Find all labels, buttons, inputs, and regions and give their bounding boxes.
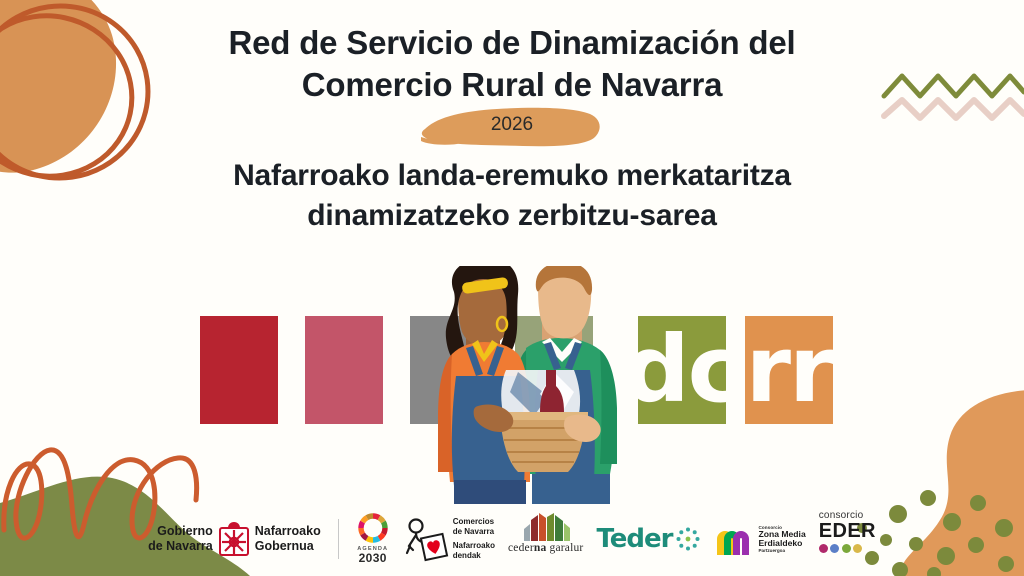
zona-l2: Erdialdeko [758,539,805,548]
comercios-text: Comercios de Navarra Nafarroako dendak [453,517,495,562]
eder-dot-row [819,544,863,553]
teder-dot-ring-icon [675,526,701,552]
block-orange-rr: rr [745,316,833,424]
shopkeepers-illustration [414,266,636,504]
cederna-tail: garalur [546,542,583,554]
sdg-wheel-icon [356,511,390,545]
gobierno-eu-l2: Gobernua [255,539,321,554]
block-olive-dc: dc [638,316,726,424]
zona-media-m-icon [714,523,754,555]
eder-dot-3 [853,544,862,553]
block-rose [305,316,383,424]
logo-gobierno-de-navarra: Gobierno de Navarra Nafarroako Gobernua [148,511,321,567]
block-orange-rr-letter: rr [745,316,833,424]
slide-canvas: Red de Servicio de Dinamización del Come… [0,0,1024,576]
cederna-mountain-icon [520,511,572,541]
title-es-line1: Red de Servicio de Dinamización del [0,22,1024,64]
shopper-heart-bag-icon [403,516,449,562]
year-badge: 2026 [457,112,567,138]
comercios-l3: Nafarroako [453,541,495,551]
year-label: 2026 [457,112,567,138]
gobierno-text-eu: Nafarroako Gobernua [255,524,321,555]
gobierno-es-l2: de Navarra [148,539,213,554]
logo-comercios-de-navarra: Comercios de Navarra Nafarroako dendak [403,511,495,567]
teder-wordmark: Teder [596,524,672,554]
logo-consorcio-eder: consorcio EDER [819,511,876,567]
eder-wordmark: EDER [819,521,876,542]
logo-agenda-2030: AGENDA 2030 [356,511,390,567]
man-jeans [532,474,610,504]
cederna-bold: na [534,542,547,554]
gobierno-eu-l1: Nafarroako [255,524,321,539]
cederna-light: ceder [508,542,534,554]
zona-media-text: Consorcio Zona Media Erdialdeko Partzuer… [758,525,805,554]
comercios-l4: dendak [453,551,495,561]
comercios-l1: Comercios [453,517,495,527]
page-title-spanish: Red de Servicio de Dinamización del Come… [0,22,1024,106]
gobierno-text-es: Gobierno de Navarra [148,524,213,555]
title-eu-line2: dinamizatzeko zerbitzu-sarea [0,196,1024,236]
comercios-l2: de Navarra [453,527,495,537]
man-shirt-arm-right [600,350,617,464]
page-title-basque: Nafarroako landa-eremuko merkataritza di… [0,156,1024,236]
eder-dot-0 [819,544,828,553]
navarra-crest-icon [219,522,249,556]
title-block: Red de Servicio de Dinamización del Come… [0,22,1024,236]
block-olive-dc-letter: dc [638,316,726,424]
eder-dot-2 [842,544,851,553]
zona-l3: Partzuergoa [758,548,805,553]
footer-logo-strip: Gobierno de Navarra Nafarroako Gobernua [0,508,1024,570]
eder-dot-1 [830,544,839,553]
woman-jeans [454,480,526,504]
logo-cederna-garalur: cederna garalur [508,511,584,567]
logo-consorcio-zona-media: Consorcio Zona Media Erdialdeko Partzuer… [714,511,805,567]
title-eu-line1: Nafarroako landa-eremuko merkataritza [0,156,1024,196]
block-dark-red [200,316,278,424]
gobierno-es-l1: Gobierno [148,524,213,539]
cederna-wordmark: cederna garalur [508,542,584,554]
logo-divider [338,519,339,559]
logo-teder: Teder [596,511,701,567]
agenda-label-bottom: 2030 [359,552,387,564]
